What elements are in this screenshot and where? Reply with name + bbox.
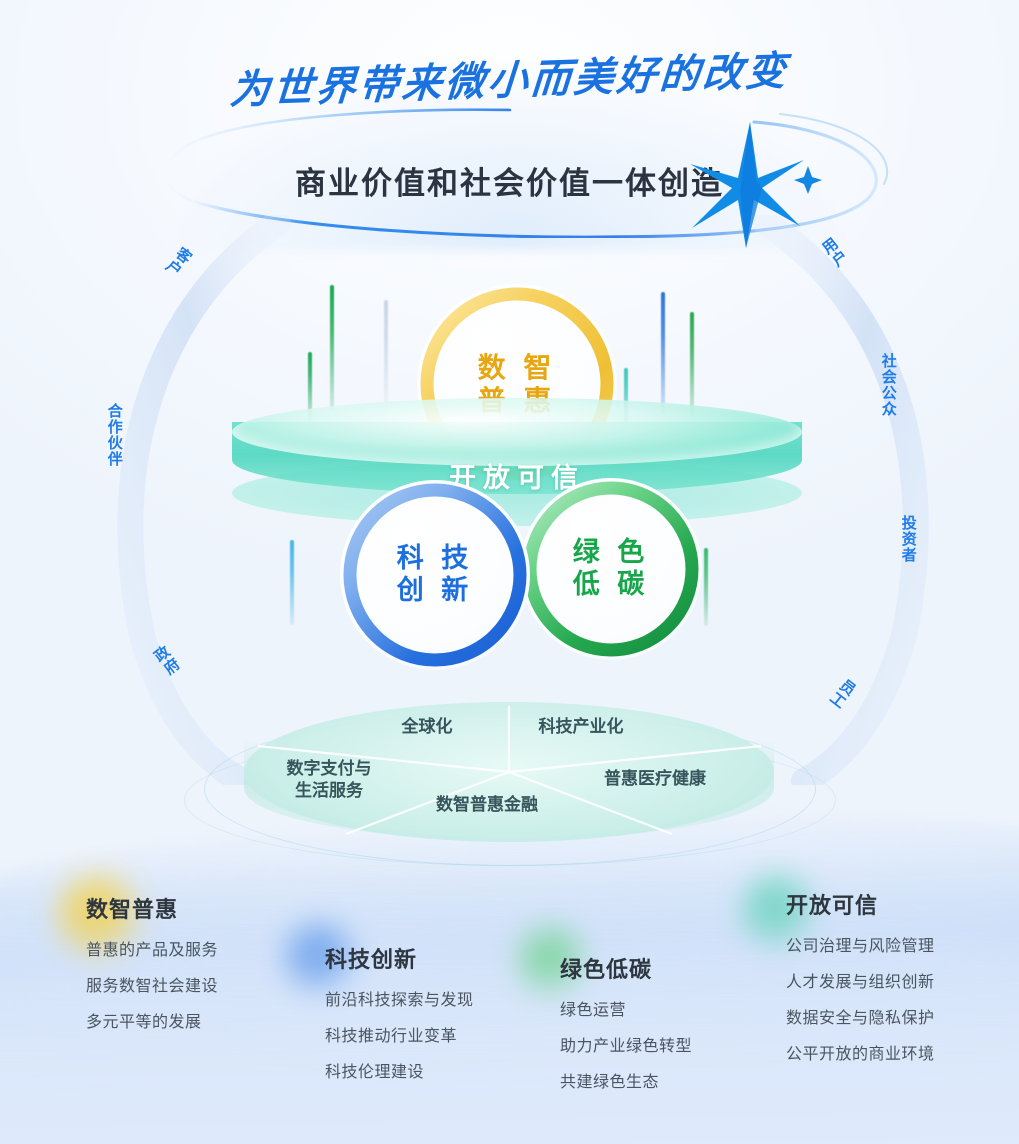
- business-base-disc[interactable]: 全球化科技产业化数字支付与 生活服务普惠医疗健康数智普惠金融: [196, 694, 822, 874]
- stakeholder-label-left-2[interactable]: 政府: [150, 644, 182, 679]
- legend-item-3-3[interactable]: 公平开放的商业环境: [786, 1040, 935, 1064]
- legend-item-3-1[interactable]: 人才发展与组织创新: [786, 968, 935, 992]
- legend-heading-1: 科技创新: [325, 942, 474, 974]
- stakeholder-label-right-1[interactable]: 社会公众: [880, 353, 896, 417]
- pillar-ring-kejichuangxin[interactable]: 科 技 创 新: [340, 480, 530, 670]
- legend-heading-3: 开放可信: [786, 888, 935, 920]
- legend-heading-0: 数智普惠: [86, 892, 218, 924]
- light-beam-1: [384, 300, 388, 410]
- background-glow-top: [150, 0, 870, 250]
- light-beam-6: [290, 540, 294, 625]
- calligraphy-title: 为世界带来微小而美好的改变: [0, 30, 1019, 124]
- legend-item-3-2[interactable]: 数据安全与隐私保护: [786, 1004, 935, 1028]
- stakeholder-label-left-1[interactable]: 合作伙伴: [106, 403, 122, 467]
- stakeholder-label-right-3[interactable]: 员工: [826, 676, 858, 711]
- legend-column-0: 数智普惠普惠的产品及服务服务数智社会建设多元平等的发展: [86, 892, 218, 1032]
- disc-segment-4[interactable]: 数智普惠金融: [402, 794, 572, 816]
- legend-item-1-2[interactable]: 科技伦理建设: [325, 1058, 474, 1082]
- legend-section: 数智普惠普惠的产品及服务服务数智社会建设多元平等的发展科技创新前沿科技探索与发现…: [0, 880, 1019, 1120]
- legend-item-1-1[interactable]: 科技推动行业变革: [325, 1022, 474, 1046]
- legend-item-0-2[interactable]: 多元平等的发展: [86, 1008, 218, 1032]
- legend-heading-2: 绿色低碳: [560, 952, 692, 984]
- disc-segment-0[interactable]: 全球化: [372, 716, 482, 738]
- light-beam-0: [330, 285, 334, 410]
- disc-segment-2[interactable]: 数字支付与 生活服务: [254, 758, 404, 802]
- legend-item-2-2[interactable]: 共建绿色生态: [560, 1068, 692, 1092]
- subtitle: 商业价值和社会价值一体创造: [0, 158, 1019, 203]
- light-beam-7: [704, 548, 708, 626]
- disc-segment-1[interactable]: 科技产业化: [506, 716, 656, 738]
- infographic-canvas: 为世界带来微小而美好的改变 商业价值和社会价值一体创造: [0, 0, 1019, 1144]
- legend-item-0-0[interactable]: 普惠的产品及服务: [86, 936, 218, 960]
- pillar-label: 绿 色 低 碳: [520, 537, 702, 601]
- legend-column-1: 科技创新前沿科技探索与发现科技推动行业变革科技伦理建设: [325, 942, 474, 1082]
- stakeholder-label-right-2[interactable]: 投资者: [900, 515, 916, 563]
- legend-item-2-0[interactable]: 绿色运营: [560, 996, 692, 1020]
- pillar-label: 科 技 创 新: [340, 543, 530, 607]
- light-beam-3: [661, 292, 665, 414]
- legend-column-3: 开放可信公司治理与风险管理人才发展与组织创新数据安全与隐私保护公平开放的商业环境: [786, 888, 935, 1064]
- pillar-ring-lvsediTan[interactable]: 绿 色 低 碳: [520, 478, 702, 660]
- stakeholder-label-left-0[interactable]: 客户: [162, 244, 194, 279]
- legend-item-0-1[interactable]: 服务数智社会建设: [86, 972, 218, 996]
- legend-item-1-0[interactable]: 前沿科技探索与发现: [325, 986, 474, 1010]
- stakeholder-label-right-0[interactable]: 用户: [818, 236, 850, 271]
- disc-segment-3[interactable]: 普惠医疗健康: [570, 768, 740, 790]
- legend-item-2-1[interactable]: 助力产业绿色转型: [560, 1032, 692, 1056]
- legend-item-3-0[interactable]: 公司治理与风险管理: [786, 932, 935, 956]
- legend-column-2: 绿色低碳绿色运营助力产业绿色转型共建绿色生态: [560, 952, 692, 1092]
